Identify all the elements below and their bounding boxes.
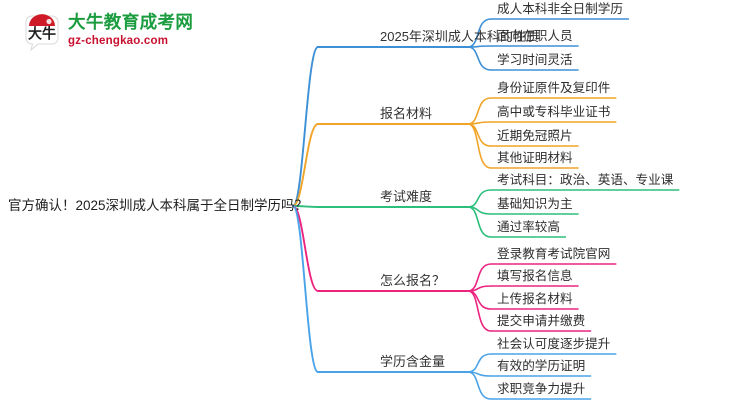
leaf-label-2-2[interactable]: 高中或专科毕业证书 <box>497 105 610 120</box>
leaf-label-4-1[interactable]: 登录教育考试院官网 <box>497 247 610 262</box>
leaf-label-5-3[interactable]: 求职竞争力提升 <box>497 382 585 397</box>
leaf-label-5-1[interactable]: 社会认可度逐步提升 <box>497 337 610 352</box>
leaf-label-4-4[interactable]: 提交申请并缴费 <box>497 314 585 329</box>
branch-label-3[interactable]: 考试难度 <box>380 189 432 204</box>
branch-label-5[interactable]: 学历含金量 <box>380 354 445 369</box>
leaf-label-1-1[interactable]: 成人本科非全日制学历 <box>497 2 623 17</box>
branch-label-4[interactable]: 怎么报名？ <box>380 273 445 288</box>
branch-label-2[interactable]: 报名材料 <box>380 106 432 121</box>
leaf-label-2-3[interactable]: 近期免冠照片 <box>497 129 573 144</box>
leaf-label-3-2[interactable]: 基础知识为主 <box>497 197 573 212</box>
leaf-label-4-2[interactable]: 填写报名信息 <box>497 269 573 284</box>
leaf-label-1-2[interactable]: 面向在职人员 <box>497 29 573 44</box>
leaf-label-2-4[interactable]: 其他证明材料 <box>497 151 573 166</box>
leaf-label-4-3[interactable]: 上传报名材料 <box>497 292 573 307</box>
leaf-label-3-3[interactable]: 通过率较高 <box>497 220 560 235</box>
leaf-label-2-1[interactable]: 身份证原件及复印件 <box>497 81 610 96</box>
leaf-label-3-1[interactable]: 考试科目：政治、英语、专业课 <box>497 173 673 188</box>
root-node-label[interactable]: 官方确认！2025深圳成人本科属于全日制学历吗？ <box>8 198 308 213</box>
leaf-label-5-2[interactable]: 有效的学历证明 <box>497 359 585 374</box>
leaf-label-1-3[interactable]: 学习时间灵活 <box>497 53 573 68</box>
